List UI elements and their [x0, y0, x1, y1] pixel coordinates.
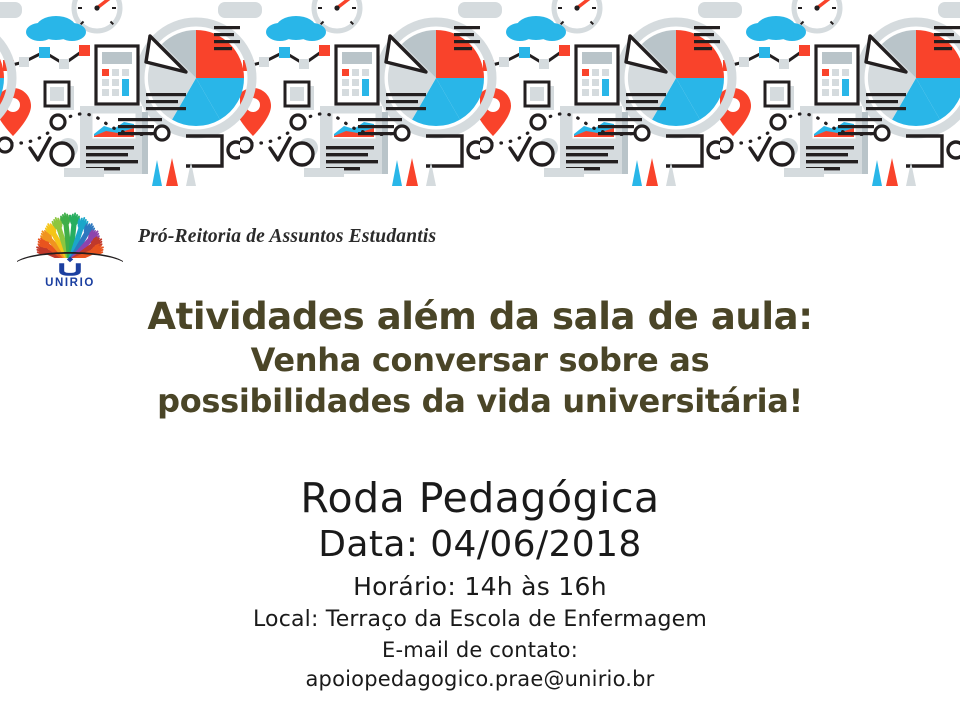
pill-icon	[720, 2, 742, 18]
unirio-label: UNIRIO	[14, 277, 126, 289]
headline-line-3: possibilidades da vida universitária!	[0, 385, 960, 417]
infographic-tile	[0, 0, 240, 186]
square-icon	[45, 82, 74, 110]
pill-icon	[480, 2, 502, 18]
poster-headline: Atividades além da sala de aula: Venha c…	[0, 298, 960, 417]
calculator-icon	[336, 46, 378, 104]
circle-icon	[468, 142, 480, 158]
circle-icon	[228, 142, 240, 158]
contact-email-label: E-mail de contato:	[0, 640, 960, 661]
pill-icon	[240, 2, 262, 18]
pill-icon	[938, 2, 960, 18]
unirio-logo: UNIRIO	[14, 196, 126, 288]
pill-icon	[458, 2, 480, 18]
event-poster: UNIRIO Pró-Reitoria de Assuntos Estudant…	[0, 0, 960, 720]
calculator-icon	[96, 46, 138, 104]
banner-tile	[240, 0, 480, 186]
infographic-tile	[720, 0, 960, 186]
circle-icon	[948, 142, 960, 158]
department-title: Pró-Reitoria de Assuntos Estudantis	[138, 226, 436, 248]
calculator-icon	[816, 46, 858, 104]
pill-icon	[698, 2, 720, 18]
event-title: Roda Pedagógica	[0, 478, 960, 519]
square-icon	[285, 82, 314, 110]
banner-tile	[720, 0, 960, 186]
event-date: Data: 04/06/2018	[0, 527, 960, 563]
banner-tile	[0, 0, 240, 186]
pill-icon	[0, 2, 22, 18]
square-icon	[525, 82, 554, 110]
calculator-icon	[576, 46, 618, 104]
headline-line-2: Venha conversar sobre as	[0, 344, 960, 376]
infographic-tile	[240, 0, 480, 186]
banner-tile-strip	[0, 0, 960, 186]
unirio-wordmark: UNIRIO	[14, 256, 126, 288]
unirio-person-icon	[57, 256, 83, 276]
banner-tile	[480, 0, 720, 186]
event-location: Local: Terraço da Escola de Enfermagem	[0, 609, 960, 631]
contact-email: apoiopedagogico.prae@unirio.br	[0, 669, 960, 690]
event-time: Horário: 14h às 16h	[0, 574, 960, 599]
event-details: Roda Pedagógica Data: 04/06/2018 Horário…	[0, 478, 960, 690]
pill-icon	[218, 2, 240, 18]
circle-icon	[708, 142, 720, 158]
infographic-tile	[480, 0, 720, 186]
headline-line-1: Atividades além da sala de aula:	[0, 298, 960, 335]
infographic-header-banner	[0, 0, 960, 186]
square-icon	[765, 82, 794, 110]
